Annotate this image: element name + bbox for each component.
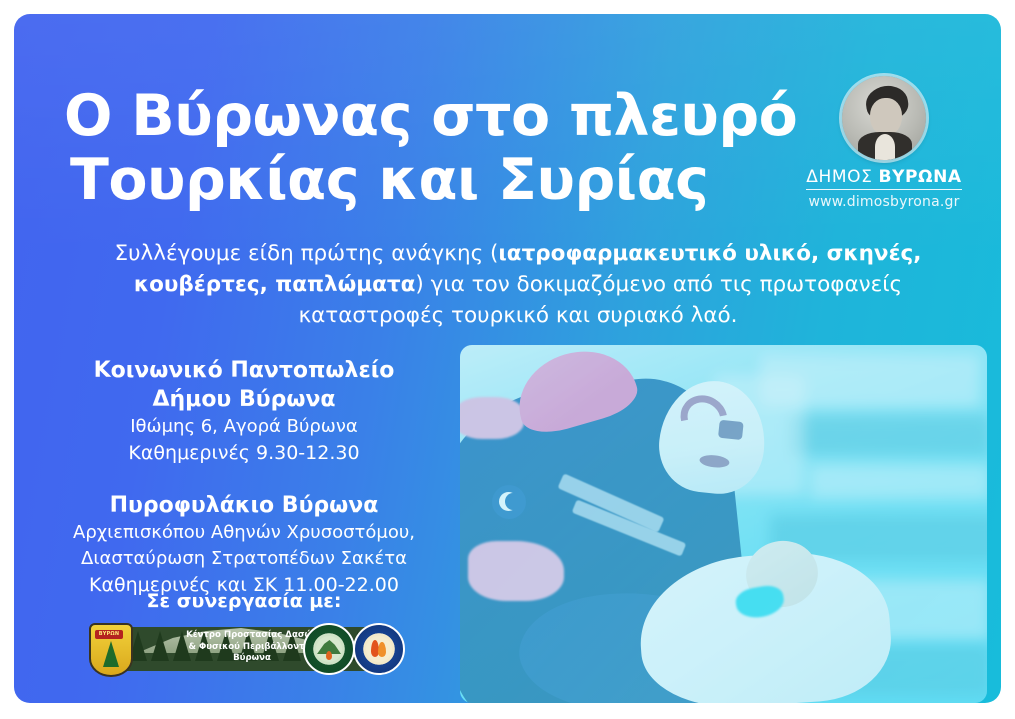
flame-icon xyxy=(326,651,332,660)
subtitle-part-1: Συλλέγουμε είδη πρώτης ανάγκης ( xyxy=(115,241,499,266)
venue-address-line-1: Αρχιεπισκόπου Αθηνών Χρυσοστόμου, xyxy=(44,520,444,546)
forest-protection-badge[interactable] xyxy=(303,623,355,675)
partners-label: Σε συνεργασία με: xyxy=(44,590,444,612)
subtitle-paragraph: Συλλέγουμε είδη πρώτης ανάγκης (ιατροφαρ… xyxy=(74,238,962,331)
partner-logos: Κέντρο Προστασίας Δασών & Φυσικού Περιβά… xyxy=(89,617,409,679)
venue-item-pyrofylakio: Πυροφυλάκιο Βύρωνα Αρχιεπισκόπου Αθηνών … xyxy=(44,491,444,599)
portrait-face xyxy=(870,98,902,136)
venue-name-line-1: Κοινωνικό Παντοπωλείο xyxy=(44,356,444,385)
uniform-pink-panel xyxy=(460,397,524,439)
municipality-logo[interactable]: ΔΗΜΟΣ ΒΥΡΩΝΑ www.dimosbyrona.gr xyxy=(789,76,979,210)
venue-name-line-2: Δήμου Βύρωνα xyxy=(44,385,444,414)
municipality-name: ΔΗΜΟΣ ΒΥΡΩΝΑ xyxy=(806,167,961,190)
venue-address-line-2: Διασταύρωση Στρατοπέδων Σακέτα xyxy=(44,546,444,572)
page-title: Ο Βύρωνας στο πλευρό Τουρκίας και Συρίας xyxy=(50,84,840,212)
portrait-shirt xyxy=(875,134,895,160)
byron-portrait-icon xyxy=(842,76,926,160)
venue-name-line-1: Πυροφυλάκιο Βύρωνα xyxy=(44,491,444,520)
municipality-name-bold: ΒΥΡΩΝΑ xyxy=(879,167,962,187)
venue-address: Ιθώμης 6, Αγορά Βύρωνα xyxy=(44,414,444,440)
turkish-flag-patch-icon xyxy=(492,485,526,519)
helmet-lamp-icon xyxy=(718,420,744,440)
uniform-pink-panel xyxy=(468,541,564,601)
poster-card: Ο Βύρωνας στο πλευρό Τουρκίας και Συρίας… xyxy=(14,14,1001,703)
flame-icon xyxy=(378,642,386,657)
municipality-url[interactable]: www.dimosbyrona.gr xyxy=(789,194,979,210)
title-line-2: Τουρκίας και Συρίας xyxy=(50,148,840,212)
helmet-marking xyxy=(672,386,736,449)
tree-icon xyxy=(151,631,169,661)
shield-banner-text: ΒΥΡΩΝ xyxy=(95,630,123,639)
rescue-photo xyxy=(460,345,987,703)
helmet-chinstrap xyxy=(699,454,730,469)
fire-service-badge[interactable] xyxy=(353,623,405,675)
venue-hours: Καθημερινές 9.30-12.30 xyxy=(44,440,444,467)
venue-item-pantopoleio: Κοινωνικό Παντοπωλείο Δήμου Βύρωνα Ιθώμη… xyxy=(44,356,444,467)
venue-list: Κοινωνικό Παντοπωλείο Δήμου Βύρωνα Ιθώμη… xyxy=(44,356,444,623)
tree-icon xyxy=(103,641,119,667)
rubble-shape xyxy=(790,415,987,455)
rubble-shape xyxy=(810,465,987,499)
municipality-name-prefix: ΔΗΜΟΣ xyxy=(806,167,878,187)
title-line-1: Ο Βύρωνας στο πλευρό xyxy=(50,84,840,148)
byron-shield-logo[interactable]: ΒΥΡΩΝ xyxy=(89,623,133,677)
crescent-cutout xyxy=(505,493,521,510)
